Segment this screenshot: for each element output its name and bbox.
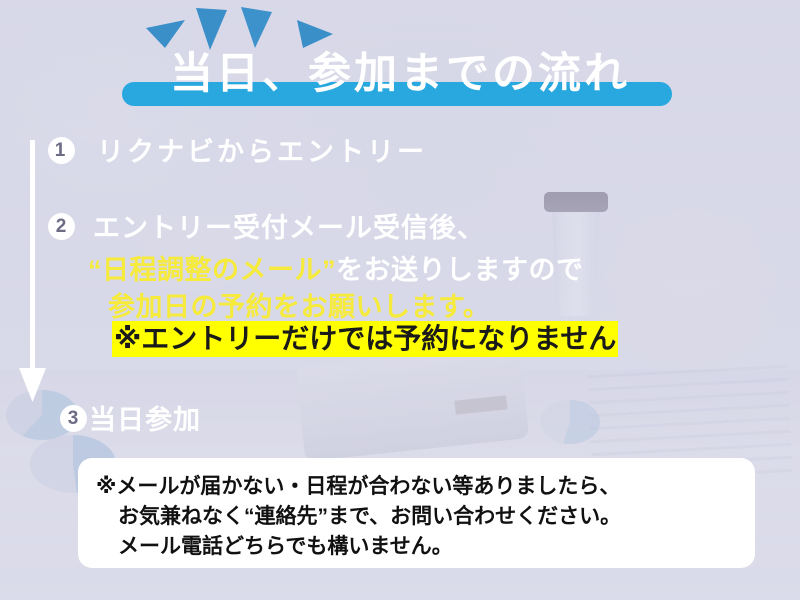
downward-flow-arrow-icon — [14, 140, 54, 405]
step-2: 2エントリー受付メール受信後、 — [48, 206, 485, 245]
note-line: お気兼ねなく“連絡先”まで、お問い合わせください。 — [96, 502, 737, 532]
note-line: メール電話どちらでも構いません。 — [96, 532, 737, 562]
step-3-label: 当日参加 — [89, 405, 201, 435]
step-2-number: 2 — [48, 213, 75, 240]
step-2-warning-highlight: ※エントリーだけでは予約になりません — [112, 321, 618, 357]
note-line: ※メールが届かない・日程が合わない等ありましたら、 — [96, 472, 737, 502]
step-2-line-2-rest: をお送りしますので — [336, 255, 584, 285]
step-2-quoted-mail-phrase: “日程調整のメール” — [88, 255, 336, 285]
step-1: 1リクナビからエントリー — [48, 130, 427, 169]
step-2-line-2: “日程調整のメール”をお送りしますので — [88, 248, 584, 287]
slide-canvas: 当日、参加までの流れ 1リクナビからエントリー 2エントリー受付メール受信後、 … — [0, 0, 800, 600]
step-1-label: リクナビからエントリー — [97, 137, 427, 167]
page-title: 当日、参加までの流れ — [0, 48, 800, 100]
note-box: ※メールが届かない・日程が合わない等ありましたら、 お気兼ねなく“連絡先”まで、… — [78, 458, 755, 568]
step-1-number: 1 — [48, 137, 75, 164]
step-2-line-3: 参加日の予約をお願いします。 — [108, 285, 490, 324]
step-3: 3当日参加 — [60, 398, 201, 437]
title-block: 当日、参加までの流れ — [0, 48, 800, 110]
step-3-number: 3 — [60, 405, 87, 432]
step-2-label: エントリー受付メール受信後、 — [93, 213, 485, 243]
